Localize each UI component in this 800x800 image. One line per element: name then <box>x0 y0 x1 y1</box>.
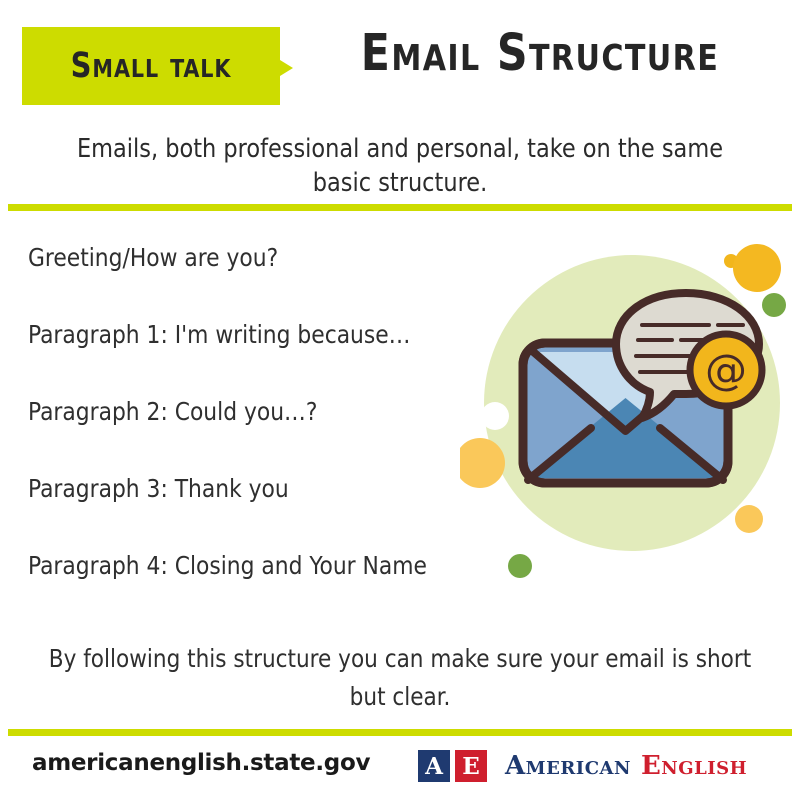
divider-top <box>8 204 792 211</box>
dot-green-bottom-left <box>508 554 532 578</box>
logo-wordmark: AmericanEnglish <box>505 751 747 781</box>
structure-list: Greeting/How are you? Paragraph 1: I'm w… <box>28 243 498 628</box>
dot-green-top <box>762 293 786 317</box>
infographic-poster: Small talk Email Structure Emails, both … <box>0 0 800 800</box>
email-envelope-illustration: @ <box>460 228 800 593</box>
closing-text: By following this structure you can make… <box>37 640 763 716</box>
logo-tile-a: A <box>418 750 450 782</box>
footer-website-url[interactable]: americanenglish.state.gov <box>32 750 370 776</box>
american-english-logo: A E AmericanEnglish <box>418 748 747 784</box>
list-item: Greeting/How are you? <box>28 243 484 320</box>
logo-word-english: English <box>641 751 747 781</box>
dot-yellow-large-top <box>733 244 781 292</box>
divider-bottom <box>8 729 792 736</box>
page-subtitle: Emails, both professional and personal, … <box>54 132 745 200</box>
list-item: Paragraph 3: Thank you <box>28 474 484 551</box>
small-talk-badge: Small talk <box>22 27 280 105</box>
list-item: Paragraph 4: Closing and Your Name <box>28 551 484 628</box>
logo-tile-e: E <box>455 750 487 782</box>
list-item: Paragraph 2: Could you…? <box>28 397 484 474</box>
svg-text:@: @ <box>705 345 747 394</box>
badge-pointer-icon <box>280 60 293 76</box>
list-item: Paragraph 1: I'm writing because… <box>28 320 484 397</box>
dot-white-left <box>481 402 509 430</box>
small-talk-badge-label: Small talk <box>32 27 269 105</box>
dot-yellow-bottom-right <box>735 505 763 533</box>
logo-word-american: American <box>505 751 631 781</box>
at-symbol-badge-icon: @ <box>690 334 762 406</box>
page-title: Email Structure <box>317 24 763 83</box>
